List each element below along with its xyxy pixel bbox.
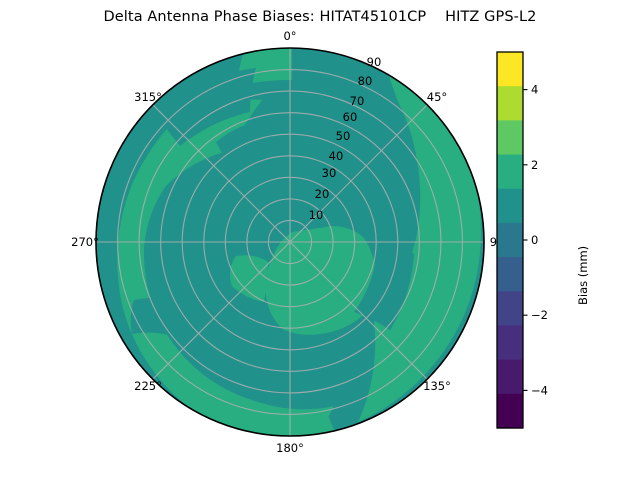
- radial-label-10: 10: [309, 208, 324, 222]
- colorbar-axis-label: Bias (mm): [576, 246, 590, 305]
- radial-label-60: 60: [343, 110, 358, 124]
- colorbar-band-9: [497, 360, 523, 395]
- polar-axes: 0° 45° 90° 135° 180° 225° 270° 315° 10 2…: [0, 0, 640, 480]
- colorbar-tick-label-2: 0: [531, 233, 538, 247]
- angular-label-135: 135°: [423, 379, 451, 393]
- colorbar-band-10: [497, 394, 523, 429]
- colorbar-band-1: [497, 86, 523, 121]
- radial-label-50: 50: [336, 129, 351, 143]
- colorbar-bands: [497, 52, 523, 429]
- colorbar-ticks: [523, 90, 528, 391]
- colorbar-tick-label-1: 2: [531, 158, 538, 172]
- radial-label-80: 80: [358, 74, 373, 88]
- angular-label-0: 0°: [283, 29, 296, 43]
- colorbar-band-7: [497, 291, 523, 326]
- colorbar-tick-label-4: −4: [531, 383, 548, 397]
- colorbar-band-3: [497, 155, 523, 190]
- angular-label-180: 180°: [276, 441, 304, 455]
- colorbar-tick-label-3: −2: [531, 308, 548, 322]
- colorbar-band-8: [497, 325, 523, 360]
- colorbar-band-6: [497, 257, 523, 292]
- radial-label-70: 70: [350, 94, 365, 108]
- figure-canvas: Delta Antenna Phase Biases: HITAT45101CP…: [0, 0, 640, 480]
- radial-label-30: 30: [322, 166, 337, 180]
- polar-grid: [96, 48, 484, 436]
- radial-label-20: 20: [315, 187, 330, 201]
- radial-label-90: 90: [367, 55, 382, 69]
- colorbar-tick-label-0: 4: [531, 83, 538, 97]
- colorbar-band-0: [497, 52, 523, 87]
- colorbar-band-2: [497, 120, 523, 155]
- angular-label-315: 315°: [134, 90, 162, 104]
- angular-label-270: 270°: [71, 235, 99, 249]
- radial-label-40: 40: [329, 149, 344, 163]
- angular-label-45: 45°: [427, 90, 447, 104]
- colorbar[interactable]: 420−2−4: [497, 52, 548, 429]
- polar-plot-svg: 0° 45° 90° 135° 180° 225° 270° 315° 10 2…: [0, 0, 640, 480]
- angular-label-225: 225°: [134, 379, 162, 393]
- colorbar-tick-labels: 420−2−4: [531, 83, 548, 398]
- colorbar-band-4: [497, 189, 523, 224]
- colorbar-band-5: [497, 223, 523, 258]
